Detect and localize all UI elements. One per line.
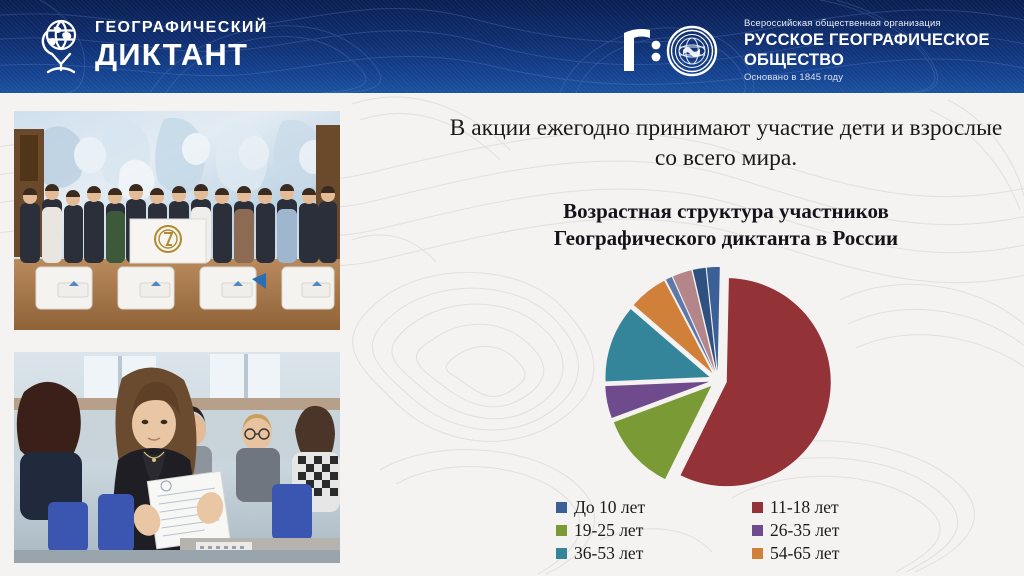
chart-legend: До 10 лет 11-18 лет 19-25 лет 26-35 лет …	[556, 496, 936, 565]
legend-label-5: 54-65 лет	[770, 545, 839, 563]
brand-geodiktant: ГЕОГРАФИЧЕСКИЙ ДИКТАНТ	[36, 14, 268, 76]
chart-title: Возрастная структура участников Географи…	[452, 198, 1000, 253]
legend-item-4[interactable]: 36-53 лет	[556, 545, 752, 563]
rgo-line-2: РУССКОЕ ГЕОГРАФИЧЕСКОЕ ОБЩЕСТВО	[744, 31, 1024, 70]
legend-item-0[interactable]: До 10 лет	[556, 499, 752, 517]
chart-title-line-2: Географического диктанта в России	[452, 225, 1000, 252]
legend-item-2[interactable]: 19-25 лет	[556, 522, 752, 540]
pie-chart	[600, 262, 862, 498]
legend-label-3: 26-35 лет	[770, 522, 839, 540]
legend-swatch-3	[752, 525, 763, 536]
legend-item-5[interactable]: 54-65 лет	[752, 545, 936, 563]
legend-item-3[interactable]: 26-35 лет	[752, 522, 936, 540]
legend-item-1[interactable]: 11-18 лет	[752, 499, 936, 517]
legend-swatch-2	[556, 525, 567, 536]
rgo-line-3: Основано в 1845 году	[744, 72, 1024, 83]
lede-text: В акции ежегодно принимают участие дети …	[436, 113, 1016, 173]
legend-swatch-4	[556, 548, 567, 559]
brand-line-2: ДИКТАНТ	[95, 39, 268, 70]
legend-label-4: 36-53 лет	[574, 545, 643, 563]
chart-title-line-1: Возрастная структура участников	[452, 198, 1000, 225]
legend-label-0: До 10 лет	[574, 499, 645, 517]
legend-label-1: 11-18 лет	[770, 499, 839, 517]
slide-root: ГЕОГРАФИЧЕСКИЙ ДИКТАНТ	[0, 0, 1024, 576]
slide-header: ГЕОГРАФИЧЕСКИЙ ДИКТАНТ	[0, 0, 1024, 93]
rgo-line-1: Всероссийская общественная организация	[744, 18, 1024, 29]
photo-group-ceremony	[14, 111, 340, 330]
photo-students-writing	[14, 352, 340, 563]
legend-swatch-1	[752, 502, 763, 513]
brand-rgo: Всероссийская общественная организация Р…	[618, 18, 1024, 83]
legend-swatch-0	[556, 502, 567, 513]
legend-swatch-5	[752, 548, 763, 559]
legend-label-2: 19-25 лет	[574, 522, 643, 540]
globe-icon	[36, 14, 84, 76]
rgo-emblem-icon	[618, 23, 730, 79]
brand-line-1: ГЕОГРАФИЧЕСКИЙ	[95, 20, 268, 36]
